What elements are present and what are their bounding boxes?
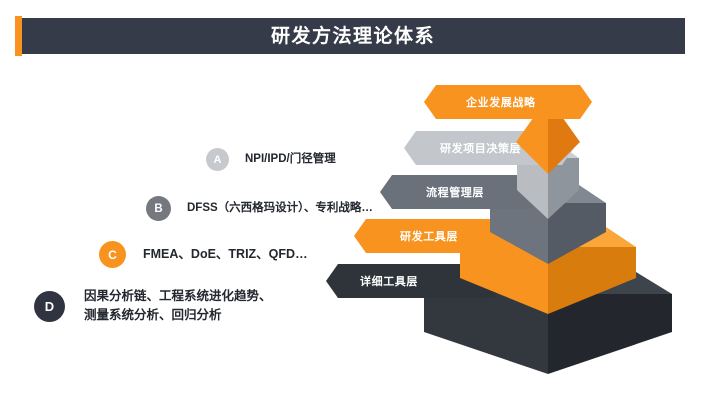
level-3-label: 流程管理层 [426,185,484,199]
slide-title-bar: 研发方法理论体系 [21,18,685,54]
bullet-badge-c: C [99,241,126,268]
level-4-label: 研发工具层 [400,229,458,243]
level-1-label: 企业发展战略 [465,95,536,109]
bullet-badge-a: A [206,148,229,171]
list-item-a[interactable]: A NPI/IPD/门径管理 [206,148,336,171]
list-item-c[interactable]: C FMEA、DoE、TRIZ、QFD… [99,241,308,268]
title-accent-bar [15,16,22,56]
list-item-d[interactable]: D 因果分析链、工程系统进化趋势、 测量系统分析、回归分析 [34,287,272,326]
page-title: 研发方法理论体系 [271,27,435,46]
level-2-label: 研发项目决策层 [440,141,521,155]
slide-canvas: 研发方法理论体系 A NPI/IPD/门径管理 B DFSS（六西格玛设计）、专… [0,0,714,408]
bullet-label-d: 因果分析链、工程系统进化趋势、 测量系统分析、回归分析 [84,287,272,326]
level-5-label: 详细工具层 [360,274,418,288]
bullet-badge-b: B [146,196,171,221]
bullet-label-c: FMEA、DoE、TRIZ、QFD… [143,245,308,263]
bullet-badge-d: D [34,291,65,322]
pyramid-diagram: 详细工具层 研发工具层 流程管理层 [318,82,688,382]
pyramid-svg: 详细工具层 研发工具层 流程管理层 [318,82,688,382]
